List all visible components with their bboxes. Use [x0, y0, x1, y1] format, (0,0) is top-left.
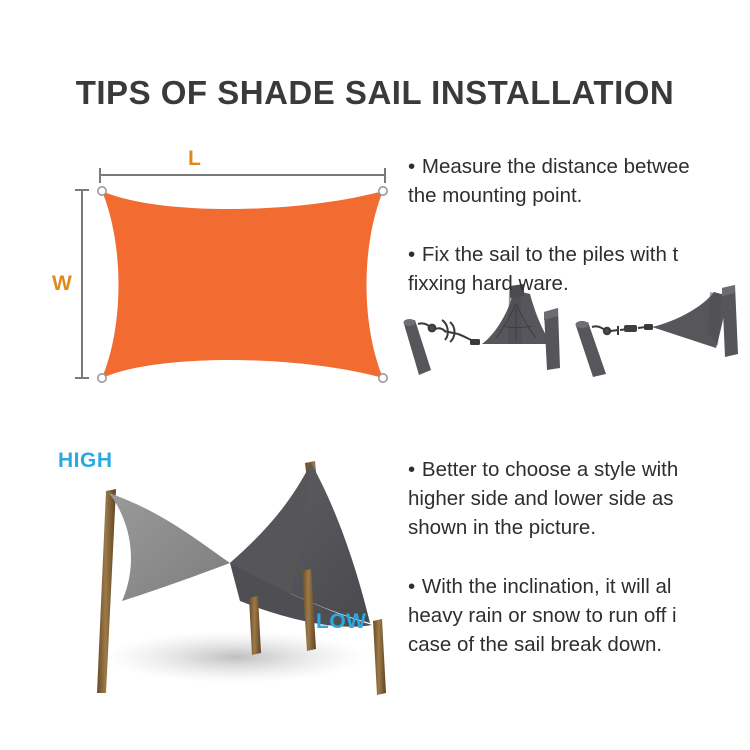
ground-shadow: [106, 631, 366, 683]
tip-text: Better to choose a style with: [422, 458, 678, 481]
width-dimension-line: [75, 190, 89, 378]
bullet-icon: •: [408, 575, 416, 598]
page-title: TIPS OF SHADE SAIL INSTALLATION: [0, 74, 750, 112]
tip-line: fixxing hard ware.: [408, 269, 750, 298]
bracket-post-icon: [544, 308, 560, 370]
sail-corner-icon: [652, 292, 728, 348]
tensioner-icon: [624, 325, 637, 332]
high-label: HIGH: [58, 450, 113, 471]
tip-text: Measure the distance betwee: [422, 155, 690, 178]
tip-line: the mounting point.: [408, 181, 750, 210]
bullet-icon: •: [408, 155, 416, 178]
pole-front-right: [373, 619, 386, 695]
tip-item: • With the inclination, it will al heavy…: [408, 572, 750, 659]
clip-icon: [470, 339, 480, 345]
post-icon: [404, 319, 432, 375]
sail-light: [109, 493, 230, 601]
tip-line: higher side and lower side as: [408, 484, 750, 513]
low-label: LOW: [316, 611, 366, 632]
bullet-icon: •: [408, 243, 416, 266]
post-icon: [576, 321, 607, 377]
sail-svg: [45, 140, 405, 400]
sail-corner-icon: [482, 290, 552, 344]
bullet-icon: •: [408, 458, 416, 481]
tip-line: heavy rain or snow to run off i: [408, 601, 750, 630]
infographic-page: TIPS OF SHADE SAIL INSTALLATION: [0, 0, 750, 750]
length-dimension-line: [100, 168, 385, 183]
tip-line: shown in the picture.: [408, 513, 750, 542]
tip-line: • Measure the distance betwee: [408, 152, 750, 181]
turnbuckle-icon: [418, 320, 476, 342]
length-label: L: [188, 148, 201, 169]
tip-text: Fix the sail to the piles with t: [422, 243, 678, 266]
tips-bottom-block: • Better to choose a style with higher s…: [408, 455, 750, 659]
tip-line: • Fix the sail to the piles with t: [408, 240, 750, 269]
chain-icon: [592, 326, 628, 335]
sail-shape: [102, 191, 383, 378]
tip-line: • With the inclination, it will al: [408, 572, 750, 601]
shade-svg: [40, 455, 420, 700]
rectangular-sail-diagram: [45, 140, 405, 400]
width-label: W: [52, 273, 72, 294]
tip-line: case of the sail break down.: [408, 630, 750, 659]
tip-line: • Better to choose a style with: [408, 455, 750, 484]
inclined-shade-sail-diagram: [40, 455, 420, 700]
clip-icon: [644, 324, 653, 330]
tip-text: With the inclination, it will al: [422, 575, 672, 598]
tips-top-block: • Measure the distance betwee the mounti…: [408, 152, 750, 298]
tip-item: • Measure the distance betwee the mounti…: [408, 152, 750, 210]
tip-item: • Better to choose a style with higher s…: [408, 455, 750, 542]
tip-item: • Fix the sail to the piles with t fixxi…: [408, 240, 750, 298]
